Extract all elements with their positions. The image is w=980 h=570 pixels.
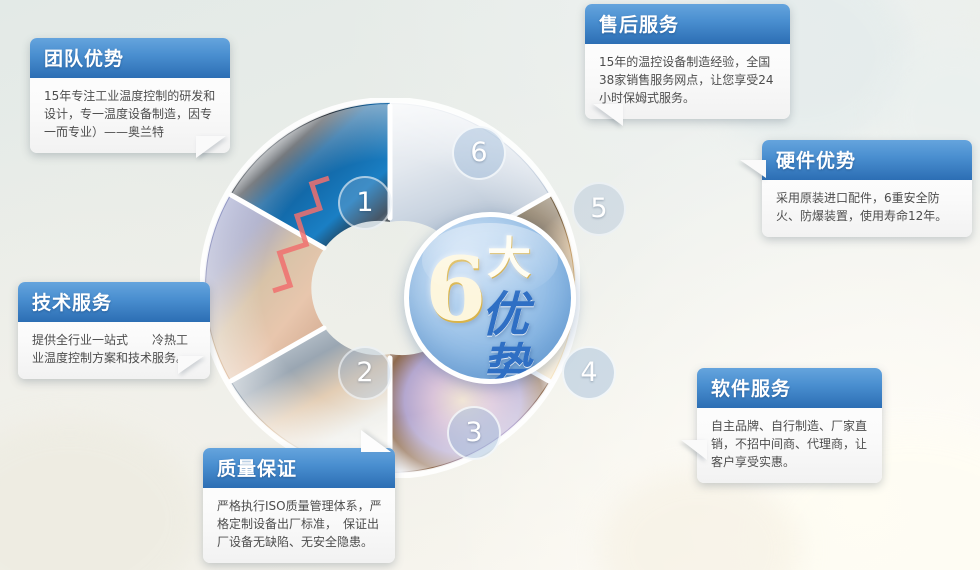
callout-tech[interactable]: 技术服务 提供全行业一站式 冷热工业温度控制方案和技术服务。	[18, 282, 210, 379]
callout-software[interactable]: 软件服务 自主品牌、自行制造、厂家直销，不招中间商、代理商，让客户享受实惠。	[697, 368, 882, 483]
infographic-canvas: 1 2 3 4 5 6 6 大 优势 团队优势 15年专注工业温度控制的研发和设…	[0, 0, 980, 570]
callout-quality[interactable]: 质量保证 严格执行ISO质量管理体系，严格定制设备出厂标准， 保证出厂设备无缺陷…	[203, 448, 395, 563]
callout-hardware[interactable]: 硬件优势 采用原装进口配件，6重安全防火、防爆装置，使用寿命12年。	[762, 140, 972, 237]
callout-after-sales-title: 售后服务	[585, 4, 790, 44]
callout-hardware-body: 采用原装进口配件，6重安全防火、防爆装置，使用寿命12年。	[762, 180, 972, 237]
callout-software-tail	[681, 440, 707, 460]
callout-quality-title: 质量保证	[203, 448, 395, 488]
center-number: 6	[425, 245, 486, 333]
bokeh-shape	[0, 420, 200, 570]
callout-team-title: 团队优势	[30, 38, 230, 78]
segment-marker-3[interactable]: 3	[447, 406, 501, 460]
segment-marker-6[interactable]: 6	[452, 126, 506, 180]
callout-after-sales[interactable]: 售后服务 15年的温控设备制造经验，全国38家销售服务网点，让您享受24小时保姆…	[585, 4, 790, 119]
callout-team-tail	[196, 136, 226, 158]
callout-software-body: 自主品牌、自行制造、厂家直销，不招中间商、代理商，让客户享受实惠。	[697, 408, 882, 483]
callout-quality-tail	[361, 430, 391, 452]
center-medallion: 6 大 优势	[404, 212, 576, 384]
callout-quality-body: 严格执行ISO质量管理体系，严格定制设备出厂标准， 保证出厂设备无缺陷、无安全隐…	[203, 488, 395, 563]
callout-tech-tail	[178, 356, 204, 374]
center-da-char: 大	[487, 237, 531, 281]
callout-team[interactable]: 团队优势 15年专注工业温度控制的研发和设计，专一温度设备制造，因专一而专业）—…	[30, 38, 230, 153]
callout-after-sales-tail	[593, 104, 623, 126]
callout-software-title: 软件服务	[697, 368, 882, 408]
callout-hardware-title: 硬件优势	[762, 140, 972, 180]
bokeh-shape	[600, 470, 800, 570]
segment-marker-2[interactable]: 2	[338, 346, 392, 400]
callout-hardware-tail	[740, 160, 766, 178]
segment-marker-1[interactable]: 1	[338, 176, 392, 230]
callout-tech-title: 技术服务	[18, 282, 210, 322]
segment-marker-5[interactable]: 5	[572, 182, 626, 236]
center-youshi-script: 优势	[481, 289, 571, 384]
